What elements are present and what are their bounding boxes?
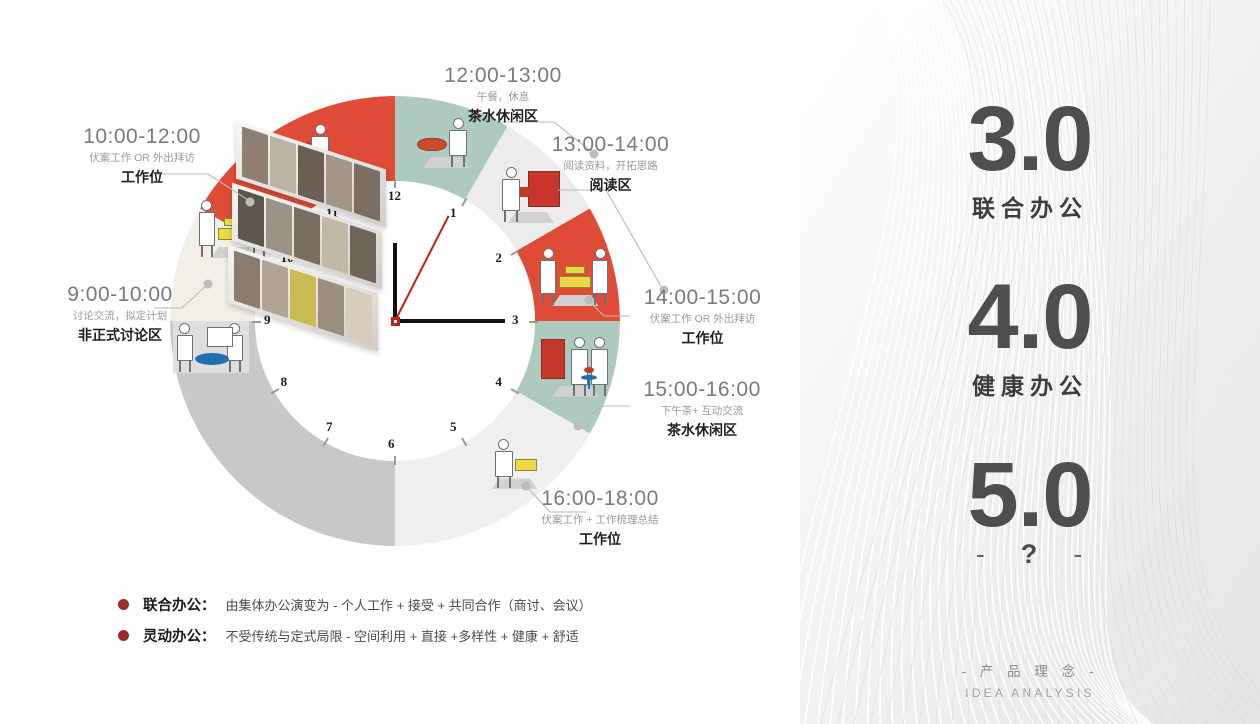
hour-number-7: 7: [326, 419, 333, 435]
callout-area: 阅读区: [508, 175, 713, 195]
clock-infographic-panel: 121234567891011: [0, 0, 800, 724]
slide-canvas: 121234567891011: [0, 0, 1260, 724]
legend: 联合办公 ： 由集体办公演变为 - 个人工作 + 接受 + 共同合作（商讨、会议…: [118, 594, 738, 656]
hour-tick-3: [529, 321, 538, 323]
picto-desk-meeting-2: [538, 246, 612, 306]
callout-area: 工作位: [42, 167, 242, 187]
picto-solo-desk: [489, 437, 541, 489]
callout-time: 14:00-15:00: [605, 286, 800, 310]
version-block-4: 4.0 健康办公: [800, 274, 1260, 401]
version-label: 联合办公: [800, 189, 1260, 223]
callout-13-14: 13:00-14:00 阅读资料，开拓思路 阅读区: [508, 133, 713, 195]
callout-14-15: 14:00-15:00 伏案工作 OR 外出拜访 工作位: [605, 286, 800, 348]
concept-panel: 3.0 联合办公 4.0 健康办公 5.0 -?- - 产 品 理 念 - ID…: [800, 0, 1260, 724]
hour-number-1: 1: [450, 205, 457, 221]
building-floor-bottom: [228, 269, 378, 327]
legend-row: 联合办公 ： 由集体办公演变为 - 个人工作 + 接受 + 共同合作（商讨、会议…: [118, 594, 738, 615]
legend-colon: ：: [201, 625, 216, 646]
callout-time: 10:00-12:00: [42, 125, 242, 149]
clock-hour-hand: [393, 243, 397, 321]
callout-subtitle: 伏案工作 OR 外出拜访: [42, 150, 242, 165]
legend-colon: ：: [201, 594, 216, 615]
version-number: 5.0: [800, 452, 1260, 539]
callout-15-16: 15:00-16:00 下午茶+ 互动交流 茶水休闲区: [602, 378, 802, 440]
version-number: 3.0: [800, 96, 1260, 183]
callout-area: 非正式讨论区: [20, 325, 220, 345]
legend-bullet-icon: [118, 599, 129, 610]
hour-number-2: 2: [495, 250, 502, 266]
callout-subtitle: 伏案工作 + 工作梳理总结: [490, 512, 710, 527]
callout-9-10: 9:00-10:00 讨论交流，拟定计划 非正式讨论区: [20, 283, 220, 345]
legend-row: 灵动办公 ： 不受传统与定式局限 - 空间利用 + 直接 +多样性 + 健康 +…: [118, 625, 738, 646]
legend-value: 由集体办公演变为 - 个人工作 + 接受 + 共同合作（商讨、会议）: [226, 595, 592, 614]
version-block-3: 3.0 联合办公: [800, 96, 1260, 223]
callout-area: 工作位: [490, 529, 710, 549]
version-unknown-row: -?-: [800, 539, 1260, 570]
callout-time: 13:00-14:00: [508, 133, 713, 157]
clock-minute-hand: [395, 319, 505, 323]
legend-key: 联合办公: [143, 594, 201, 615]
footer-brand: - 产 品 理 念 - IDEA ANALYSIS: [800, 660, 1260, 700]
hour-tick-12: [394, 179, 396, 188]
callout-subtitle: 阅读资料，开拓思路: [508, 158, 713, 173]
version-stack: 3.0 联合办公 4.0 健康办公 5.0 -?- - 产 品 理 念 - ID…: [800, 0, 1260, 724]
clock-center-cap: [391, 317, 400, 326]
callout-time: 15:00-16:00: [602, 378, 802, 402]
version-block-5: 5.0 -?-: [800, 452, 1260, 570]
callout-area: 茶水休闲区: [398, 106, 608, 126]
callout-subtitle: 伏案工作 OR 外出拜访: [605, 311, 800, 326]
hour-number-8: 8: [281, 374, 288, 390]
callout-10-12: 10:00-12:00 伏案工作 OR 外出拜访 工作位: [42, 125, 242, 187]
footer-brand-cn: - 产 品 理 念 -: [800, 660, 1260, 680]
hour-number-6: 6: [388, 436, 395, 452]
building-cutaway-illustration: [228, 141, 392, 331]
hour-tick-6: [394, 456, 396, 465]
legend-key: 灵动办公: [143, 625, 201, 646]
callout-12-13: 12:00-13:00 午餐，休息 茶水休闲区: [398, 64, 608, 126]
callout-subtitle: 下午茶+ 互动交流: [602, 403, 802, 418]
footer-brand-en: IDEA ANALYSIS: [800, 686, 1260, 700]
callout-16-18: 16:00-18:00 伏案工作 + 工作梳理总结 工作位: [490, 487, 710, 549]
callout-time: 16:00-18:00: [490, 487, 710, 511]
callout-time: 9:00-10:00: [20, 283, 220, 307]
callout-area: 茶水休闲区: [602, 420, 802, 440]
legend-bullet-icon: [118, 630, 129, 641]
dash-right: -: [1039, 539, 1118, 569]
hour-number-3: 3: [512, 312, 519, 328]
question-mark: ?: [1021, 539, 1040, 569]
callout-subtitle: 午餐，休息: [398, 89, 608, 104]
callout-time: 12:00-13:00: [398, 64, 608, 88]
dash-left: -: [942, 539, 1021, 569]
hour-number-5: 5: [450, 419, 457, 435]
callout-area: 工作位: [605, 328, 800, 348]
version-label: 健康办公: [800, 367, 1260, 401]
legend-value: 不受传统与定式局限 - 空间利用 + 直接 +多样性 + 健康 + 舒适: [226, 626, 579, 645]
picto-vending-chat: [539, 335, 611, 397]
version-number: 4.0: [800, 274, 1260, 361]
hour-number-4: 4: [495, 374, 502, 390]
callout-subtitle: 讨论交流，拟定计划: [20, 308, 220, 323]
